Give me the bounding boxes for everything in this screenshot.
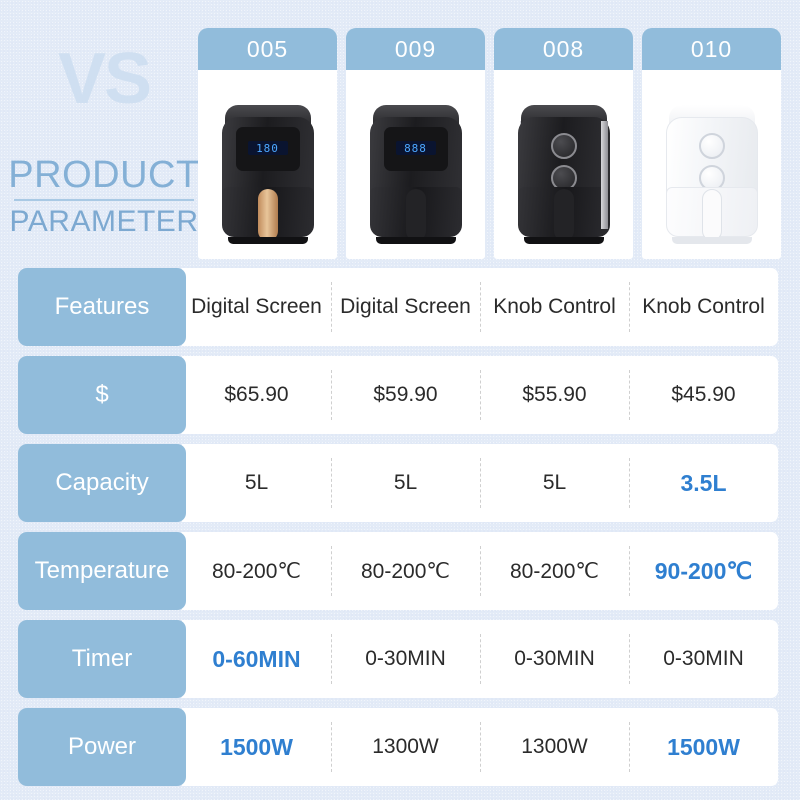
product-column-010: 010	[642, 28, 781, 259]
product-code-tab[interactable]: 008	[494, 28, 633, 70]
fryer-feet	[228, 237, 308, 244]
row-values: $65.90$59.90$55.90$45.90	[182, 356, 778, 434]
product-column-009: 009888	[346, 28, 485, 259]
fryer-feet	[672, 237, 752, 244]
row-label: Features	[18, 268, 186, 346]
fryer-knob-top[interactable]	[699, 133, 725, 159]
fryer-feet	[376, 237, 456, 244]
fryer-handle	[406, 189, 426, 241]
air-fryer-white-knob-icon	[660, 91, 764, 251]
product-header-row: 005180009888008010	[198, 28, 781, 259]
table-row: Timer0-60MIN0-30MIN0-30MIN0-30MIN	[18, 620, 778, 698]
table-row: Capacity5L5L5L3.5L	[18, 444, 778, 522]
value-cell: 3.5L	[629, 444, 778, 522]
row-label: Temperature	[18, 532, 186, 610]
row-label: Timer	[18, 620, 186, 698]
air-fryer-black-knob-icon	[512, 91, 616, 251]
value-cell: Digital Screen	[182, 268, 331, 346]
comparison-infographic: VS PRODUCT PARAMETER 005180009888008010 …	[0, 0, 800, 800]
value-cell: 1300W	[331, 708, 480, 786]
row-values: 1500W1300W1300W1500W	[182, 708, 778, 786]
value-cell: 5L	[182, 444, 331, 522]
product-code-tab[interactable]: 005	[198, 28, 337, 70]
row-values: 80-200℃80-200℃80-200℃90-200℃	[182, 532, 778, 610]
product-code-tab[interactable]: 009	[346, 28, 485, 70]
value-cell: $65.90	[182, 356, 331, 434]
value-cell: Knob Control	[629, 268, 778, 346]
air-fryer-black-digital-icon: 180	[216, 91, 320, 251]
value-cell: 1300W	[480, 708, 629, 786]
comparison-table: FeaturesDigital ScreenDigital ScreenKnob…	[18, 268, 778, 796]
row-values: Digital ScreenDigital ScreenKnob Control…	[182, 268, 778, 346]
fryer-handle	[702, 189, 722, 241]
value-cell: 0-30MIN	[480, 620, 629, 698]
row-values: 0-60MIN0-30MIN0-30MIN0-30MIN	[182, 620, 778, 698]
fryer-display: 888	[396, 141, 436, 155]
value-cell: Digital Screen	[331, 268, 480, 346]
table-row: $$65.90$59.90$55.90$45.90	[18, 356, 778, 434]
fryer-feet	[524, 237, 604, 244]
value-cell: 5L	[331, 444, 480, 522]
product-code-tab[interactable]: 010	[642, 28, 781, 70]
product-column-008: 008	[494, 28, 633, 259]
title-divider	[14, 199, 194, 201]
product-image-card	[494, 70, 633, 259]
value-cell: 0-30MIN	[629, 620, 778, 698]
value-cell: 0-30MIN	[331, 620, 480, 698]
fryer-handle	[258, 189, 278, 241]
table-row: Temperature80-200℃80-200℃80-200℃90-200℃	[18, 532, 778, 610]
fryer-knob-top[interactable]	[551, 133, 577, 159]
value-cell: 0-60MIN	[182, 620, 331, 698]
table-row: Power1500W1300W1300W1500W	[18, 708, 778, 786]
row-label: Capacity	[18, 444, 186, 522]
table-row: FeaturesDigital ScreenDigital ScreenKnob…	[18, 268, 778, 346]
vs-heading: VS	[8, 46, 200, 112]
air-fryer-black-touch-icon: 888	[364, 91, 468, 251]
product-heading: PRODUCT	[8, 156, 200, 196]
product-image-card: 180	[198, 70, 337, 259]
value-cell: 80-200℃	[182, 532, 331, 610]
title-block: VS PRODUCT PARAMETER	[8, 46, 200, 239]
product-image-card	[642, 70, 781, 259]
product-image-card: 888	[346, 70, 485, 259]
value-cell: Knob Control	[480, 268, 629, 346]
value-cell: 1500W	[182, 708, 331, 786]
row-label: Power	[18, 708, 186, 786]
value-cell: 1500W	[629, 708, 778, 786]
value-cell: $45.90	[629, 356, 778, 434]
value-cell: $59.90	[331, 356, 480, 434]
value-cell: 5L	[480, 444, 629, 522]
value-cell: 90-200℃	[629, 532, 778, 610]
fryer-handle	[554, 189, 574, 241]
fryer-display: 180	[248, 141, 288, 155]
parameter-heading: PARAMETER	[8, 205, 200, 239]
value-cell: 80-200℃	[480, 532, 629, 610]
value-cell: 80-200℃	[331, 532, 480, 610]
row-values: 5L5L5L3.5L	[182, 444, 778, 522]
row-label: $	[18, 356, 186, 434]
value-cell: $55.90	[480, 356, 629, 434]
product-column-005: 005180	[198, 28, 337, 259]
